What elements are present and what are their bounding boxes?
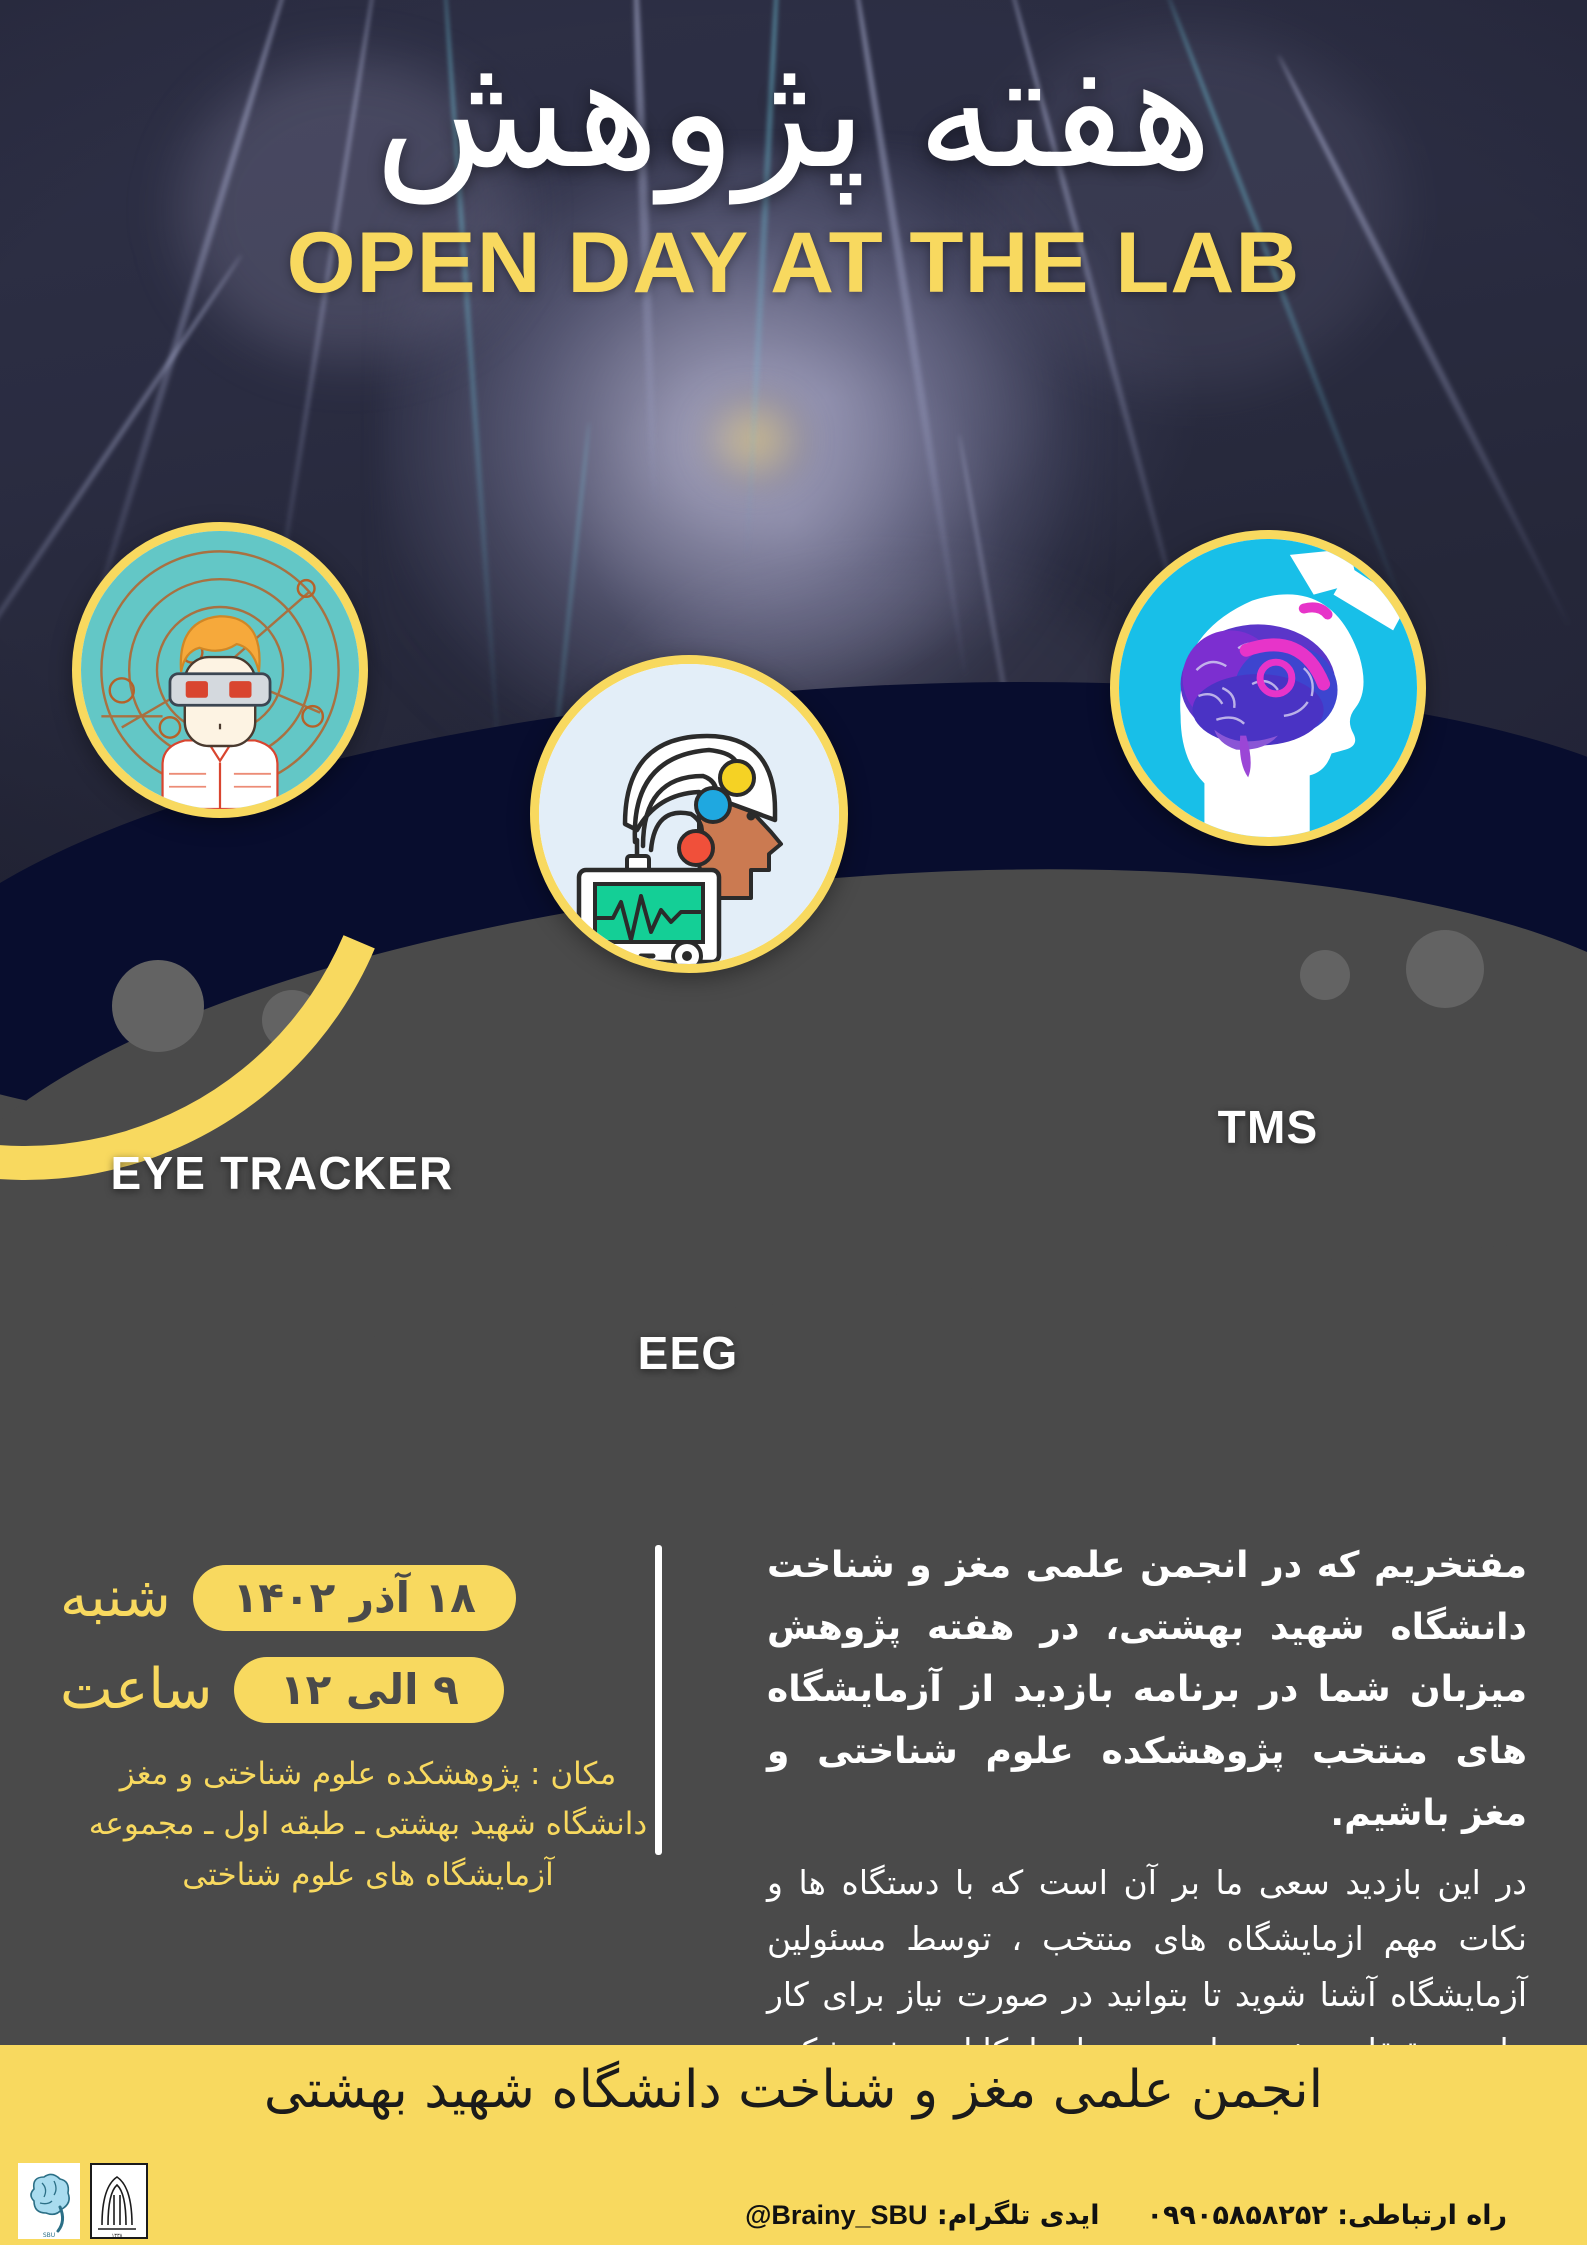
footer-telegram-label: ایدی تلگرام: bbox=[937, 2200, 1100, 2231]
modality-circle-eeg[interactable] bbox=[530, 655, 848, 973]
modality-label-eye-tracker: EYE TRACKER bbox=[72, 1146, 492, 1200]
page-title-en: OPEN DAY AT THE LAB bbox=[0, 214, 1587, 313]
schedule-time-label: ساعت bbox=[60, 1662, 212, 1718]
brainy-sbu-association-logo: SBU bbox=[18, 2163, 80, 2239]
svg-text:SBU: SBU bbox=[43, 2232, 55, 2239]
schedule-day-row: ۱۸ آذر ۱۴۰۲ شنبه bbox=[60, 1565, 670, 1631]
tms-brain-icon bbox=[1119, 539, 1417, 837]
svg-text:۱۳۳۸: ۱۳۳۸ bbox=[112, 2233, 123, 2239]
poster-root: هفته پژوهش OPEN DAY AT THE LAB bbox=[0, 0, 1587, 2245]
schedule-block: ۱۸ آذر ۱۴۰۲ شنبه ۹ الی ۱۲ ساعت مکان : پژ… bbox=[60, 1565, 670, 1900]
footer-contact-label: راه ارتباطی: bbox=[1337, 2200, 1507, 2231]
description-paragraph-1: مفتخریم که در انجمن علمی مغز و شناخت دان… bbox=[767, 1535, 1527, 1845]
modality-circle-eye-tracker[interactable] bbox=[72, 522, 368, 818]
footer-telegram-handle[interactable]: @Brainy_SBU bbox=[745, 2200, 927, 2231]
schedule-time-row: ۹ الی ۱۲ ساعت bbox=[60, 1657, 670, 1723]
schedule-day-label: شنبه bbox=[60, 1570, 171, 1626]
shahid-beheshti-university-logo: ۱۳۳۸ bbox=[90, 2163, 148, 2239]
footer-contact-line: راه ارتباطی: ۰۹۹۰۵۸۵۸۲۵۲ ایدی تلگرام: @B… bbox=[745, 2200, 1507, 2231]
deco-dot-3 bbox=[1300, 950, 1350, 1000]
eeg-headset-icon bbox=[539, 664, 839, 964]
modality-label-eeg: EEG bbox=[508, 1326, 868, 1380]
brain-logo-icon: SBU bbox=[18, 2163, 80, 2239]
schedule-time-pill: ۹ الی ۱۲ bbox=[234, 1657, 504, 1723]
footer-logo-group: ۱۳۳۸ SBU bbox=[18, 2163, 148, 2239]
deco-dot-4 bbox=[1406, 930, 1484, 1008]
modality-label-tms: TMS bbox=[1110, 1100, 1426, 1154]
vertical-divider bbox=[655, 1545, 662, 1855]
university-crest-icon: ۱۳۳۸ bbox=[90, 2165, 146, 2239]
footer-bar: انجمن علمی مغز و شناخت دانشگاه شهید بهشت… bbox=[0, 2045, 1587, 2245]
footer-contact-phone: ۰۹۹۰۵۸۵۸۲۵۲ bbox=[1147, 2200, 1328, 2231]
schedule-venue-text: مکان : پژوهشکده علوم شناختی و مغز دانشگا… bbox=[60, 1749, 670, 1900]
eye-tracker-icon bbox=[81, 531, 359, 809]
footer-organization: انجمن علمی مغز و شناخت دانشگاه شهید بهشت… bbox=[0, 2059, 1587, 2121]
modality-circle-tms[interactable] bbox=[1110, 530, 1426, 846]
page-title-fa: هفته پژوهش bbox=[0, 30, 1587, 196]
schedule-date-pill: ۱۸ آذر ۱۴۰۲ bbox=[193, 1565, 516, 1631]
